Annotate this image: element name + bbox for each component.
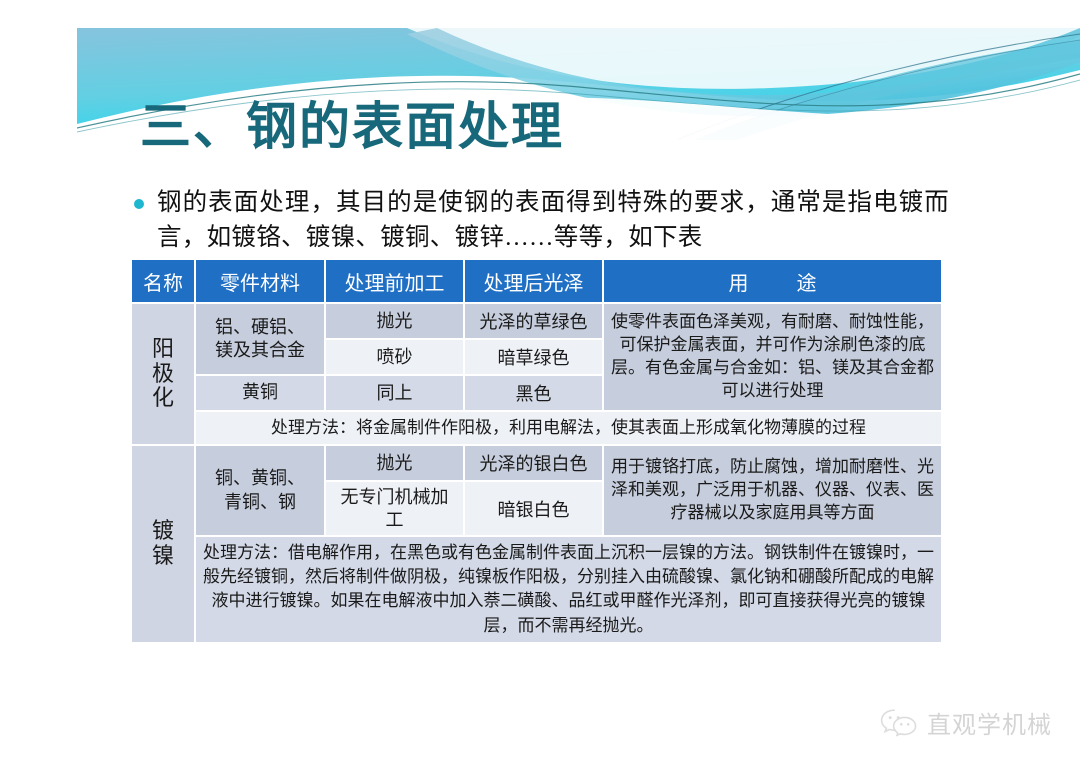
cell-use: 用于镀铬打底，防止腐蚀，增加耐磨性、光泽和美观，广泛用于机器、仪器、仪表、医疗器… <box>604 446 941 535</box>
col-header-pre-process: 处理前加工 <box>326 260 463 302</box>
cell-post-gloss: 暗银白色 <box>465 482 602 535</box>
col-header-use: 用 途 <box>604 260 941 302</box>
section-name-anodizing: 阳 极 化 <box>132 304 194 444</box>
table-header: 名称 零件材料 处理前加工 处理后光泽 用 途 <box>132 260 941 302</box>
cell-method: 处理方法：借电解作用，在黑色或有色金属制件表面上沉积一层镍的方法。钢铁制件在镀镍… <box>196 537 941 642</box>
cell-pre-process: 无专门机械加工 <box>326 482 463 535</box>
surface-treatment-table: 名称 零件材料 处理前加工 处理后光泽 用 途 阳 极 化 铝、硬铝、镁及其合金 <box>130 258 943 644</box>
slide-canvas: 三、钢的表面处理 钢的表面处理，其目的是使钢的表面得到特殊的要求，通常是指电镀而… <box>0 0 1080 764</box>
section-name-char: 镍 <box>138 544 188 569</box>
col-header-name: 名称 <box>132 260 194 302</box>
table-header-row: 名称 零件材料 处理前加工 处理后光泽 用 途 <box>132 260 941 302</box>
section-name-char: 极 <box>138 362 188 387</box>
table-row: 处理方法：借电解作用，在黑色或有色金属制件表面上沉积一层镍的方法。钢铁制件在镀镍… <box>132 537 941 642</box>
intro-bullet: 钢的表面处理，其目的是使钢的表面得到特殊的要求，通常是指电镀而言，如镀铬、镀镍、… <box>134 186 949 256</box>
section-name-char: 阳 <box>138 337 188 362</box>
table-row: 阳 极 化 铝、硬铝、镁及其合金 抛光 光泽的草绿色 使零件表面色泽美观，有耐磨… <box>132 304 941 338</box>
section-name-char: 化 <box>138 386 188 411</box>
cell-material: 铝、硬铝、镁及其合金 <box>196 304 324 374</box>
cell-use: 使零件表面色泽美观，有耐磨、耐蚀性能，可保护金属表面，并可作为涂刷色漆的底层。有… <box>604 304 941 410</box>
cell-pre-process: 抛光 <box>326 304 463 338</box>
watermark: 直观学机械 <box>880 705 1052 740</box>
table-row: 处理方法：将金属制件作阳极，利用电解法，使其表面上形成氧化物薄膜的过程 <box>132 412 941 444</box>
cell-pre-process: 喷砂 <box>326 340 463 374</box>
cell-material: 黄铜 <box>196 376 324 410</box>
cell-post-gloss: 暗草绿色 <box>465 340 602 374</box>
page-title: 三、钢的表面处理 <box>140 98 564 157</box>
cell-post-gloss: 黑色 <box>465 376 602 410</box>
intro-bullet-text: 钢的表面处理，其目的是使钢的表面得到特殊的要求，通常是指电镀而言，如镀铬、镀镍、… <box>157 186 949 256</box>
section-name-nickel-plating: 镀 镍 <box>132 446 194 642</box>
bullet-dot-icon <box>134 199 144 209</box>
cell-method: 处理方法：将金属制件作阳极，利用电解法，使其表面上形成氧化物薄膜的过程 <box>196 412 941 444</box>
cell-material: 铜、黄铜、青铜、钢 <box>196 446 324 535</box>
table-row: 镀 镍 铜、黄铜、青铜、钢 抛光 光泽的银白色 用于镀铬打底，防止腐蚀，增加耐磨… <box>132 446 941 480</box>
surface-treatment-table-wrap: 名称 零件材料 处理前加工 处理后光泽 用 途 阳 极 化 铝、硬铝、镁及其合金 <box>130 258 943 644</box>
table-body: 阳 极 化 铝、硬铝、镁及其合金 抛光 光泽的草绿色 使零件表面色泽美观，有耐磨… <box>132 304 941 642</box>
watermark-text: 直观学机械 <box>927 705 1052 740</box>
col-header-material: 零件材料 <box>196 260 324 302</box>
col-header-post-gloss: 处理后光泽 <box>465 260 602 302</box>
cell-post-gloss: 光泽的银白色 <box>465 446 602 480</box>
cell-pre-process: 同上 <box>326 376 463 410</box>
section-name-char: 镀 <box>138 519 188 544</box>
wechat-icon <box>880 707 918 739</box>
cell-pre-process: 抛光 <box>326 446 463 480</box>
cell-post-gloss: 光泽的草绿色 <box>465 304 602 338</box>
